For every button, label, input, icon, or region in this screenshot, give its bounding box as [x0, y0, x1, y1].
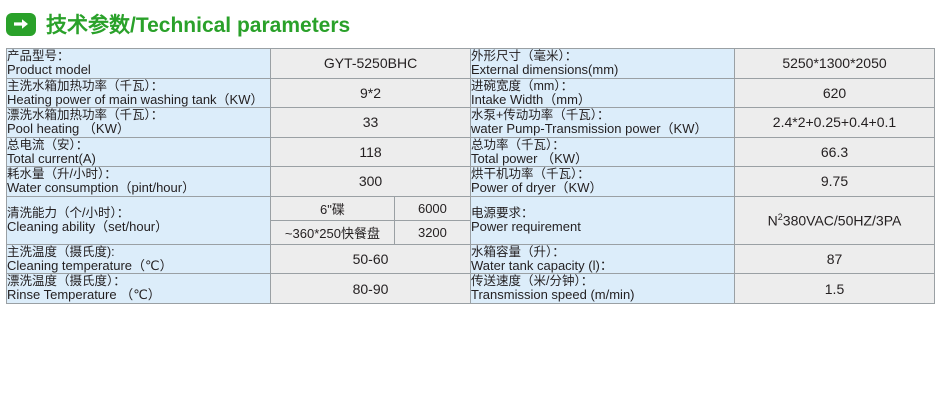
table-row: 耗水量（升/小时）： Water consumption（pint/hour） …	[7, 167, 935, 197]
label-en: Intake Width（mm）	[471, 93, 734, 108]
label-cn: 漂洗温度（摄氏度）：	[7, 274, 270, 288]
section-header: 技术参数/Technical parameters	[0, 0, 940, 48]
power-req-suffix: 380VAC/50HZ/3PA	[783, 213, 902, 229]
param-label-total-power: 总功率（千瓦）： Total power （KW）	[471, 137, 735, 167]
table-row: 清洗能力（个/小时）： Cleaning ability（set/hour） 6…	[7, 196, 935, 244]
power-req-prefix: N	[768, 213, 778, 229]
label-cn: 耗水量（升/小时）：	[7, 167, 270, 181]
param-label-cleaning-ability: 清洗能力（个/小时）： Cleaning ability（set/hour）	[7, 196, 271, 244]
subtable-row: ~360*250快餐盘 3200	[271, 220, 470, 244]
param-value-water-consumption: 300	[271, 167, 471, 197]
label-cn: 漂洗水箱加热功率（千瓦）：	[7, 108, 270, 122]
label-en: Heating power of main washing tank（KW）	[7, 93, 270, 108]
label-en: Power of dryer（KW）	[471, 181, 734, 196]
label-cn: 传送速度（米/分钟）：	[471, 274, 734, 288]
technical-parameters-table: 产品型号： Product model GYT-5250BHC 外形尺寸（毫米）…	[6, 48, 935, 304]
label-cn: 水泵+传动功率（千瓦）：	[471, 108, 734, 122]
label-en: Water consumption（pint/hour）	[7, 181, 270, 196]
table-row: 主洗温度（摄氏度): Cleaning temperature（℃） 50-60…	[7, 244, 935, 274]
param-label-intake-width: 进碗宽度（mm）： Intake Width（mm）	[471, 78, 735, 108]
param-value-total-power: 66.3	[735, 137, 935, 167]
label-en: Total power （KW）	[471, 152, 734, 167]
label-cn: 进碗宽度（mm）：	[471, 79, 734, 93]
label-cn: 主洗温度（摄氏度):	[7, 245, 270, 259]
cleaning-ability-count: 6000	[394, 197, 470, 221]
param-value-pool-heating: 33	[271, 108, 471, 138]
param-value-water-tank-capacity: 87	[735, 244, 935, 274]
label-en: Pool heating （KW）	[7, 122, 270, 137]
param-value-rinse-temperature: 80-90	[271, 274, 471, 304]
cleaning-ability-subtable: 6"碟 6000 ~360*250快餐盘 3200	[271, 197, 470, 244]
table-row: 漂洗温度（摄氏度）： Rinse Temperature （℃） 80-90 传…	[7, 274, 935, 304]
label-cn: 电源要求：	[471, 206, 734, 220]
param-label-total-current: 总电流（安）： Total current(A)	[7, 137, 271, 167]
label-en: External dimensions(mm)	[471, 63, 734, 78]
label-cn: 烘干机功率（千瓦）：	[471, 167, 734, 181]
param-value-pump-transmission-power: 2.4*2+0.25+0.4+0.1	[735, 108, 935, 138]
label-cn: 总功率（千瓦）：	[471, 138, 734, 152]
param-label-cleaning-temperature: 主洗温度（摄氏度): Cleaning temperature（℃）	[7, 244, 271, 274]
table-row: 主洗水箱加热功率（千瓦）： Heating power of main wash…	[7, 78, 935, 108]
table-row: 漂洗水箱加热功率（千瓦）： Pool heating （KW） 33 水泵+传动…	[7, 108, 935, 138]
param-label-rinse-temperature: 漂洗温度（摄氏度）： Rinse Temperature （℃）	[7, 274, 271, 304]
param-value-transmission-speed: 1.5	[735, 274, 935, 304]
param-label-pool-heating: 漂洗水箱加热功率（千瓦）： Pool heating （KW）	[7, 108, 271, 138]
arrow-right-icon	[6, 13, 36, 36]
label-cn: 外形尺寸（毫米）：	[471, 49, 734, 63]
param-label-power-requirement: 电源要求： Power requirement	[471, 196, 735, 244]
label-en: Power requirement	[471, 220, 734, 235]
label-en: Product model	[7, 63, 270, 78]
cleaning-ability-item: ~360*250快餐盘	[271, 220, 394, 244]
label-en: Rinse Temperature （℃）	[7, 288, 270, 303]
label-en: Water tank capacity (l)：	[471, 259, 734, 274]
param-label-product-model: 产品型号： Product model	[7, 49, 271, 79]
label-en: Cleaning temperature（℃）	[7, 259, 270, 274]
param-value-total-current: 118	[271, 137, 471, 167]
param-label-pump-transmission-power: 水泵+传动功率（千瓦）： water Pump-Transmission pow…	[471, 108, 735, 138]
label-en: Total current(A)	[7, 152, 270, 167]
param-value-external-dimensions: 5250*1300*2050	[735, 49, 935, 79]
param-value-main-tank-heating-power: 9*2	[271, 78, 471, 108]
label-en: Transmission speed (m/min)	[471, 288, 734, 303]
param-value-intake-width: 620	[735, 78, 935, 108]
param-value-product-model: GYT-5250BHC	[271, 49, 471, 79]
page-title: 技术参数/Technical parameters	[46, 9, 350, 39]
param-value-cleaning-ability: 6"碟 6000 ~360*250快餐盘 3200	[271, 196, 471, 244]
label-en: Cleaning ability（set/hour）	[7, 220, 270, 235]
param-value-power-of-dryer: 9.75	[735, 167, 935, 197]
label-cn: 清洗能力（个/小时）：	[7, 206, 270, 220]
cleaning-ability-count: 3200	[394, 220, 470, 244]
param-label-main-tank-heating-power: 主洗水箱加热功率（千瓦）： Heating power of main wash…	[7, 78, 271, 108]
param-label-power-of-dryer: 烘干机功率（千瓦）： Power of dryer（KW）	[471, 167, 735, 197]
label-cn: 水箱容量（升）：	[471, 245, 734, 259]
label-en: water Pump-Transmission power（KW）	[471, 122, 734, 137]
param-label-water-consumption: 耗水量（升/小时）： Water consumption（pint/hour）	[7, 167, 271, 197]
label-cn: 产品型号：	[7, 49, 270, 63]
table-row: 总电流（安）： Total current(A) 118 总功率（千瓦）： To…	[7, 137, 935, 167]
param-label-transmission-speed: 传送速度（米/分钟）： Transmission speed (m/min)	[471, 274, 735, 304]
subtable-row: 6"碟 6000	[271, 197, 470, 221]
param-value-power-requirement: N2380VAC/50HZ/3PA	[735, 196, 935, 244]
label-cn: 主洗水箱加热功率（千瓦）：	[7, 79, 270, 93]
table-row: 产品型号： Product model GYT-5250BHC 外形尺寸（毫米）…	[7, 49, 935, 79]
label-cn: 总电流（安）：	[7, 138, 270, 152]
param-label-water-tank-capacity: 水箱容量（升）： Water tank capacity (l)：	[471, 244, 735, 274]
param-value-cleaning-temperature: 50-60	[271, 244, 471, 274]
cleaning-ability-item: 6"碟	[271, 197, 394, 221]
param-label-external-dimensions: 外形尺寸（毫米）： External dimensions(mm)	[471, 49, 735, 79]
